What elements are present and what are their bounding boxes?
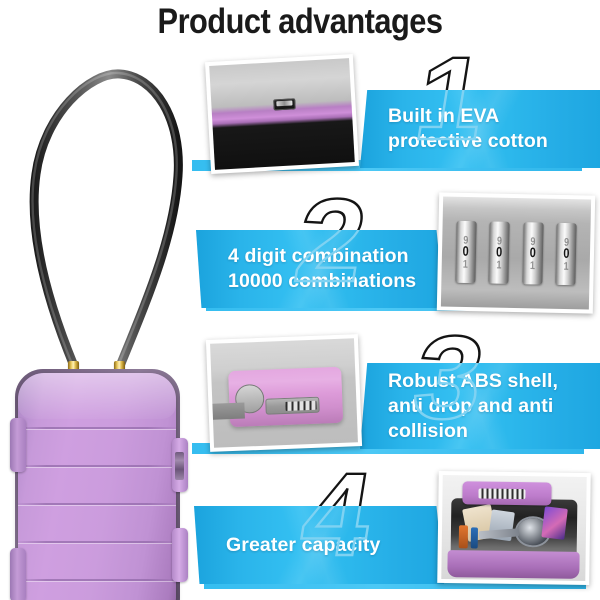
- feature-numeral-2-overlay: 2: [288, 230, 374, 300]
- lock-panel: [265, 397, 319, 415]
- feature-row-3: 3 Robust ABS shell, anti drop and anti c…: [200, 325, 600, 473]
- feature-numeral-2-overlay-clip: 2: [196, 230, 444, 308]
- case-latch-left-top: [10, 418, 26, 472]
- combination-dial: 901: [489, 221, 510, 283]
- steel-cable-loop-icon: [6, 48, 202, 378]
- feature-numeral-4-overlay-clip: 4: [194, 506, 444, 584]
- open-case-base: [447, 550, 580, 579]
- feature-photo-2: 901 901 901 901: [437, 192, 595, 313]
- case-button-detail: [273, 99, 296, 111]
- feature-numeral-3-overlay-clip: 3: [360, 363, 600, 449]
- case-ridge: [18, 541, 176, 543]
- feature-numeral-4-overlay: 4: [294, 506, 380, 574]
- feature-photo-1: [205, 54, 359, 174]
- contents-pen: [459, 525, 468, 548]
- open-case-capacity-photo: [441, 475, 586, 581]
- case-latch-right-top: [172, 438, 188, 492]
- case-strap: [212, 403, 244, 420]
- feature-row-1: 1 Built in EVA protective cotton 1: [200, 50, 600, 190]
- combination-dial: 901: [522, 222, 543, 284]
- case-latch-left-bottom: [10, 548, 26, 600]
- case-latch-right-bottom: [172, 528, 188, 582]
- eva-foam-edge-photo: [209, 58, 355, 170]
- combination-dial: 901: [455, 221, 476, 283]
- feature-photo-3: [206, 334, 362, 452]
- open-case-lid: [462, 482, 552, 506]
- contents-phone: [541, 506, 568, 540]
- case-dial-strip: [175, 452, 184, 480]
- case-lid-highlight: [18, 373, 176, 419]
- feature-row-4: 4 Greater capacity 4: [200, 462, 600, 600]
- case-ridge: [18, 465, 176, 467]
- lid-combination-dials: [479, 488, 526, 499]
- pink-case-body: [228, 367, 342, 427]
- case-body: [18, 373, 176, 600]
- combination-dial: 901: [556, 223, 577, 285]
- product-image: [6, 48, 202, 596]
- case-ridge: [18, 579, 176, 581]
- feature-numeral-1-overlay: 1: [408, 90, 494, 158]
- abs-shell-case-photo: [210, 338, 358, 447]
- page-title: Product advantages: [36, 2, 564, 42]
- feature-numeral-1-overlay-clip: 1: [360, 90, 600, 168]
- case-ridge: [18, 427, 176, 429]
- case-ridge: [18, 503, 176, 505]
- feature-row-2: 2 4 digit combination 10000 combinations…: [200, 188, 600, 328]
- contents-pen-2: [471, 527, 478, 548]
- feature-photo-4: [437, 471, 591, 585]
- infographic-page: Product advantages: [0, 0, 600, 600]
- feature-numeral-3-overlay: 3: [406, 363, 492, 437]
- combination-dials-photo: 901 901 901 901: [441, 196, 591, 309]
